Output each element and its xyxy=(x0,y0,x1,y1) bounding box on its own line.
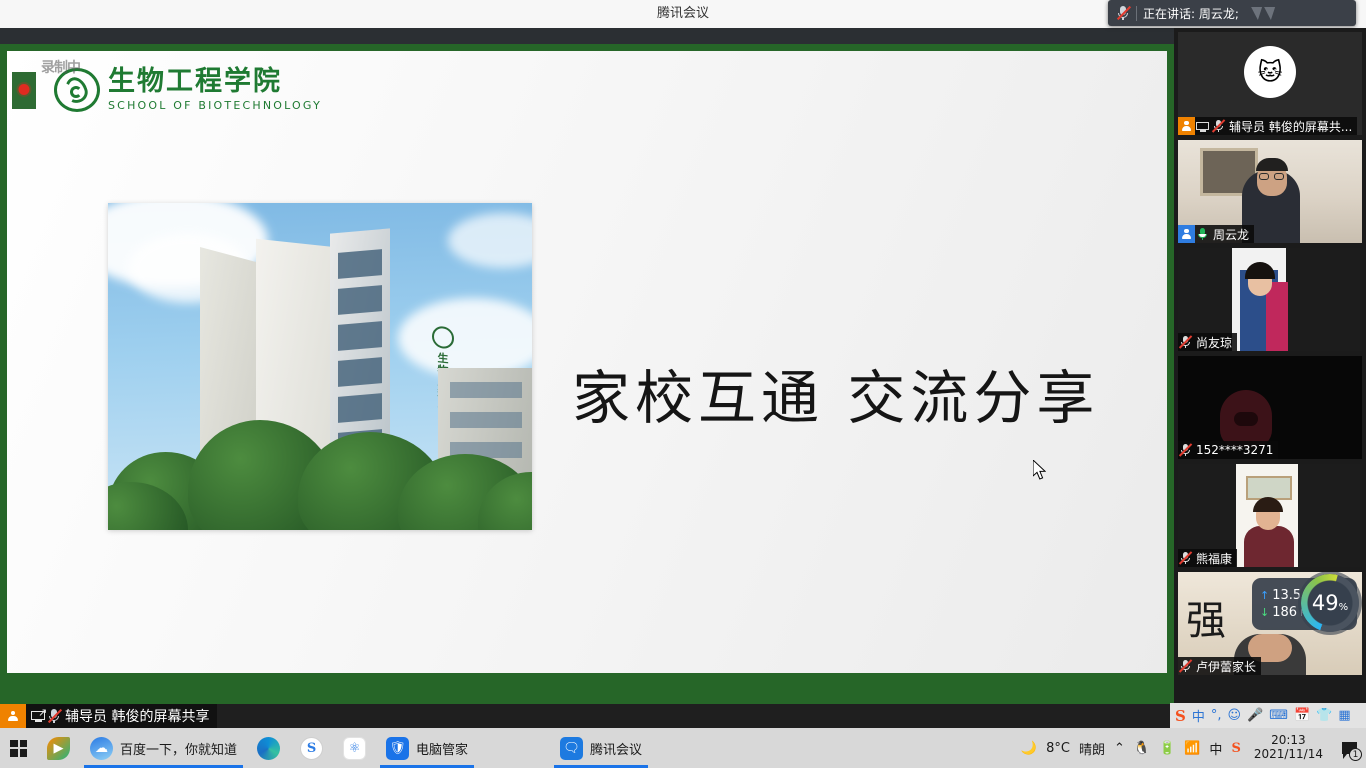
tencent-meeting-icon[interactable]: 🗨 xyxy=(560,737,583,760)
chevron-up-icon[interactable]: ⌃ xyxy=(1114,741,1125,756)
taskbar-item-wps-cloud[interactable]: ⚛ xyxy=(333,728,376,768)
soft-keyboard-icon[interactable]: ⌨ xyxy=(1269,708,1288,723)
school-name-block: 生物工程学院 SCHOOL OF BIOTECHNOLOGY xyxy=(108,68,322,111)
slide-title: 家校互通 交流分享 xyxy=(572,351,1099,435)
mic-muted-icon xyxy=(1178,657,1193,675)
ime-chinese-icon[interactable]: 中 xyxy=(1209,739,1222,758)
sogou-ime-icon[interactable]: S xyxy=(1175,707,1186,725)
school-name-cn: 生物工程学院 xyxy=(108,68,322,96)
recording-dot-icon xyxy=(19,84,30,95)
microphone-icon[interactable]: 🎤 xyxy=(1247,708,1263,723)
start-button[interactable] xyxy=(0,728,37,768)
recording-badge xyxy=(12,72,36,109)
participants-rail[interactable]: 🐱 辅导员 韩俊的屏幕共... xyxy=(1174,28,1366,710)
slide-photo: 生物工程学院 xyxy=(108,203,532,530)
arrow-up-icon: ↑ xyxy=(1260,589,1269,602)
participant-tile[interactable]: 周云龙 xyxy=(1178,140,1362,243)
upload-speed-value: 13.5 xyxy=(1272,588,1301,603)
baidu-browser-icon[interactable]: ☁ xyxy=(90,737,113,760)
mic-muted-icon[interactable] xyxy=(1116,5,1130,21)
presentation-slide: 生物工程学院 SCHOOL OF BIOTECHNOLOGY 录制中 生物工程学… xyxy=(7,51,1167,673)
windows-start-icon[interactable] xyxy=(10,740,27,757)
skin-shirt-icon[interactable]: 👕 xyxy=(1316,708,1332,723)
recording-label: 录制中 xyxy=(41,57,80,77)
school-name-en: SCHOOL OF BIOTECHNOLOGY xyxy=(108,99,322,112)
moon-icon: 🌙 xyxy=(1021,741,1037,756)
tray-weather-text: 晴朗 xyxy=(1079,739,1105,758)
participant-tile[interactable]: 熊福康 xyxy=(1178,464,1362,567)
sogou-ime-icon[interactable]: S xyxy=(1231,741,1240,756)
mouse-cursor-icon xyxy=(1033,460,1046,480)
screen-share-icon xyxy=(1195,117,1211,135)
tray-temperature: 8°C xyxy=(1046,741,1070,756)
participant-name: 卢伊蕾家长 xyxy=(1193,658,1256,675)
shared-screen-content: 生物工程学院 SCHOOL OF BIOTECHNOLOGY 录制中 生物工程学… xyxy=(7,51,1167,673)
usage-percent-symbol: % xyxy=(1339,602,1349,613)
ime-mode-toggle[interactable]: 中 xyxy=(1192,706,1205,725)
mic-muted-icon xyxy=(47,708,61,724)
taskbar-item-tencent-meeting[interactable]: 🗨 腾讯会议 xyxy=(550,728,652,768)
speaking-toast[interactable]: 正在讲话: 周云龙; xyxy=(1108,0,1356,26)
taskbar-item-sogou-browser[interactable]: S xyxy=(290,728,333,768)
meeting-toolbar-strip xyxy=(0,28,1366,44)
mic-muted-icon xyxy=(1178,333,1193,351)
taskbar-item-label: 电脑管家 xyxy=(416,739,468,758)
sogou-ime-toolbar[interactable]: S 中 °, ☺ 🎤 ⌨ 📅 👕 ▦ xyxy=(1170,703,1366,728)
taskbar-item-pc-manager[interactable]: 🛡 电脑管家 xyxy=(376,728,478,768)
participant-tile[interactable]: 🐱 辅导员 韩俊的屏幕共... xyxy=(1178,32,1362,135)
participant-tile[interactable]: 152****3271 xyxy=(1178,356,1362,459)
notification-count: 1 xyxy=(1349,748,1362,761)
taskbar-item-label: 百度一下，你就知道 xyxy=(120,739,237,758)
participant-name-strip: 熊福康 xyxy=(1178,549,1237,567)
screen-share-label-bar: ↗ 辅导员 韩俊的屏幕共享 xyxy=(0,704,217,728)
screen-share-label: 辅导员 韩俊的屏幕共享 xyxy=(61,706,217,726)
battery-icon[interactable]: 🔋 xyxy=(1159,741,1175,756)
notification-icon[interactable]: 1 xyxy=(1336,735,1362,761)
participant-name-strip: 卢伊蕾家长 xyxy=(1178,657,1261,675)
participant-tile[interactable]: 强 ↑ 13.5 K/s ↓ 186 K/s 49% xyxy=(1178,572,1362,675)
mic-muted-icon xyxy=(1211,117,1226,135)
user-avatar-icon xyxy=(1178,225,1195,243)
apps-grid-icon[interactable]: ▦ xyxy=(1338,708,1350,723)
calendar-icon[interactable]: 📅 xyxy=(1294,708,1310,723)
toast-divider xyxy=(1136,6,1137,21)
participant-name-strip: 152****3271 xyxy=(1178,441,1278,459)
taskbar[interactable]: ▶ ☁ 百度一下，你就知道 S ⚛ 🛡 电脑管家 🗨 腾讯会议 🌙 8°C 晴朗… xyxy=(0,728,1366,768)
usage-percent-value: 49 xyxy=(1312,591,1339,615)
participant-name: 熊福康 xyxy=(1193,550,1232,567)
clock-time: 20:13 xyxy=(1254,734,1323,748)
avatar: 🐱 xyxy=(1244,46,1296,98)
participant-name-strip: 辅导员 韩俊的屏幕共... xyxy=(1178,117,1357,135)
taskbar-item-tencent-video[interactable]: ▶ xyxy=(37,728,80,768)
mic-muted-icon xyxy=(1178,549,1193,567)
wps-cloud-icon[interactable]: ⚛ xyxy=(343,737,366,760)
network-speed-widget[interactable]: ↑ 13.5 K/s ↓ 186 K/s 49% xyxy=(1252,578,1357,630)
participant-tile[interactable]: 尚友琼 xyxy=(1178,248,1362,351)
screen-share-icon: ↗ xyxy=(30,704,47,728)
participant-name-strip: 周云龙 xyxy=(1178,225,1254,243)
qq-penguin-icon[interactable]: 🐧 xyxy=(1134,741,1150,756)
sogou-browser-icon[interactable]: S xyxy=(300,737,323,760)
taskbar-item-label: 腾讯会议 xyxy=(590,739,642,758)
tencent-video-icon[interactable]: ▶ xyxy=(47,737,70,760)
usage-gauge: 49% xyxy=(1301,574,1359,632)
cat-avatar-icon: 🐱 xyxy=(1257,58,1282,86)
clock[interactable]: 20:13 2021/11/14 xyxy=(1250,734,1327,762)
wifi-icon[interactable]: 📶 xyxy=(1184,741,1200,756)
arrow-down-icon: ↓ xyxy=(1260,606,1269,619)
double-chevron-icon[interactable] xyxy=(1249,7,1273,20)
participant-name: 周云龙 xyxy=(1210,226,1249,243)
pc-manager-icon[interactable]: 🛡 xyxy=(386,737,409,760)
participant-name: 辅导员 韩俊的屏幕共... xyxy=(1226,118,1352,135)
participant-name: 152****3271 xyxy=(1193,443,1273,457)
mic-muted-icon xyxy=(1178,441,1193,459)
host-avatar-icon xyxy=(0,704,26,728)
edge-browser-icon[interactable] xyxy=(257,737,280,760)
emoji-icon[interactable]: ☺ xyxy=(1228,708,1242,723)
mic-active-icon xyxy=(1195,225,1210,243)
participant-name: 尚友琼 xyxy=(1193,334,1232,351)
taskbar-item-baidu-browser[interactable]: ☁ 百度一下，你就知道 xyxy=(80,728,247,768)
participant-name-strip: 尚友琼 xyxy=(1178,333,1237,351)
host-avatar-icon xyxy=(1178,117,1195,135)
ime-punctuation-toggle[interactable]: °, xyxy=(1211,708,1222,723)
taskbar-item-edge[interactable] xyxy=(247,728,290,768)
screen-root: 腾讯会议 正在讲话: 周云龙; 生物工程学院 SCHOOL OF BIOTECH xyxy=(0,0,1366,768)
system-tray[interactable]: 🌙 8°C 晴朗 ⌃ 🐧 🔋 📶 中 S 20:13 2021/11/14 1 xyxy=(1021,728,1366,768)
download-speed-value: 186 xyxy=(1272,605,1297,620)
clock-date: 2021/11/14 xyxy=(1254,748,1323,762)
speaking-toast-label: 正在讲话: 周云龙; xyxy=(1143,5,1239,22)
